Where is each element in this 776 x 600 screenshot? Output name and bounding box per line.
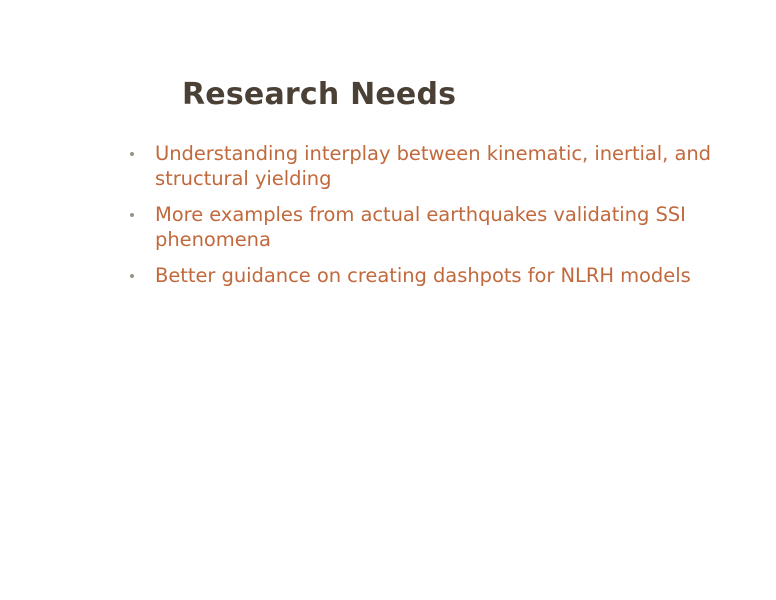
bullet-dot-icon — [130, 152, 134, 156]
list-item-label: More examples from actual earthquakes va… — [155, 203, 726, 252]
list-item-label: Understanding interplay between kinemati… — [155, 142, 726, 191]
bullet-list: Understanding interplay between kinemati… — [126, 142, 726, 289]
list-item: Better guidance on creating dashpots for… — [126, 264, 726, 289]
list-item: Understanding interplay between kinemati… — [126, 142, 726, 191]
bullet-dot-icon — [130, 213, 134, 217]
list-item: More examples from actual earthquakes va… — [126, 203, 726, 252]
list-item-label: Better guidance on creating dashpots for… — [155, 264, 726, 289]
presentation-slide: Research Needs Understanding interplay b… — [0, 0, 776, 600]
bullet-dot-icon — [130, 274, 134, 278]
page-title: Research Needs — [182, 78, 456, 112]
